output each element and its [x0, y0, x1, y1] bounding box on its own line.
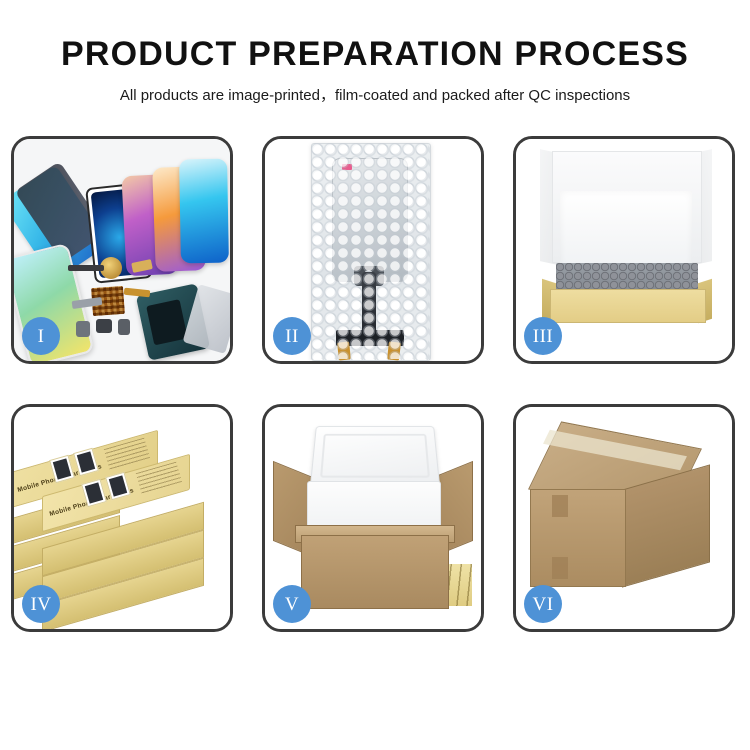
carton-tab-top-icon: [552, 495, 568, 517]
process-step-3[interactable]: III: [513, 136, 735, 364]
vibrator-icon: [96, 319, 112, 333]
lcd-panel-icon: [332, 158, 408, 282]
product-preparation-infographic: PRODUCT PREPARATION PROCESS All products…: [0, 0, 750, 750]
step-numeral: VI: [532, 595, 553, 614]
foam-sheet-icon: [560, 191, 692, 269]
gold-connector-left-icon: [337, 341, 351, 360]
bubble-wrap-bag-icon: [311, 143, 431, 361]
flex-cable-icon: [68, 265, 104, 271]
process-step-5[interactable]: V: [262, 404, 484, 632]
header: PRODUCT PREPARATION PROCESS All products…: [0, 0, 750, 105]
step-badge-2: II: [273, 317, 311, 355]
foam-lid-icon: [310, 426, 440, 487]
carton-body-icon: [301, 535, 449, 609]
step-badge-4: IV: [22, 585, 60, 623]
carton-tab-bottom-icon: [552, 557, 568, 579]
step-numeral: IV: [30, 595, 51, 614]
step-badge-3: III: [524, 317, 562, 355]
step-numeral: II: [285, 327, 299, 346]
carton-front-face-icon: [530, 489, 626, 587]
gold-connector-right-icon: [387, 341, 401, 360]
page-subtitle: All products are image-printed，film-coat…: [0, 84, 750, 105]
phone-cyan-icon: [179, 159, 229, 264]
step-numeral: III: [533, 327, 553, 346]
process-step-2[interactable]: II: [262, 136, 484, 364]
step-badge-1: I: [22, 317, 60, 355]
gold-contact-icon: [124, 288, 151, 298]
process-step-4[interactable]: Mobile Phone Spare Parts Mobile Phone Sp…: [11, 404, 233, 632]
step-numeral: I: [38, 327, 45, 346]
sim-tray-icon: [118, 319, 130, 335]
box-front-wall-icon: [550, 289, 706, 323]
camera-module-icon: [76, 321, 90, 337]
process-step-1[interactable]: I: [11, 136, 233, 364]
step-numeral: V: [285, 595, 299, 614]
process-step-6[interactable]: VI: [513, 404, 735, 632]
step-badge-5: V: [273, 585, 311, 623]
step-badge-6: VI: [524, 585, 562, 623]
pink-label-icon: [342, 164, 352, 170]
page-title: PRODUCT PREPARATION PROCESS: [0, 36, 750, 73]
process-step-grid: I II: [11, 136, 739, 676]
